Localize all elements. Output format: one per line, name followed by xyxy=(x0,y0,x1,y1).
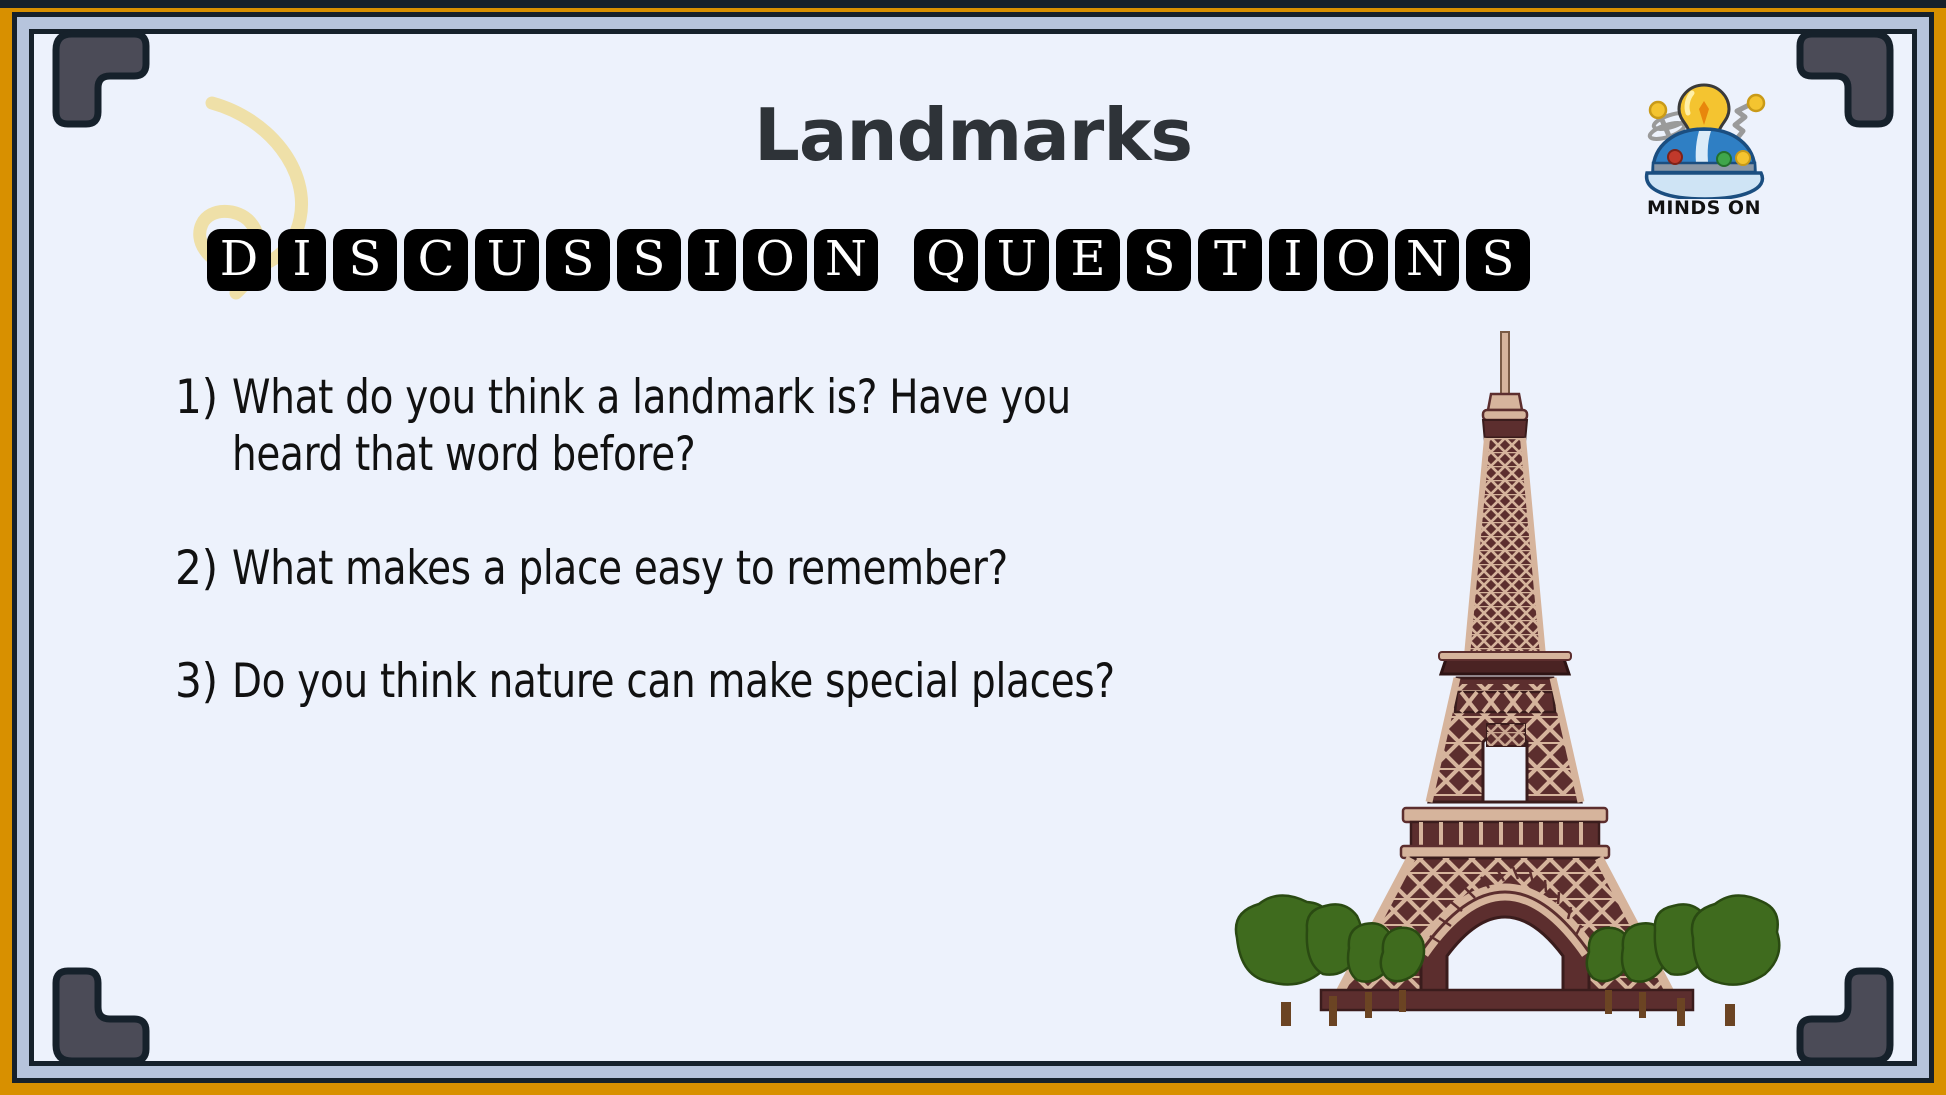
banner-letter-tile: N xyxy=(814,229,878,291)
banner-letter-tile: C xyxy=(404,229,468,291)
banner-letter-tile: S xyxy=(1127,229,1191,291)
corner-bracket-top-left xyxy=(46,24,154,132)
banner-letter-tile: U xyxy=(475,229,539,291)
banner-letter-tile: S xyxy=(546,229,610,291)
question-text: Do you think nature can make special pla… xyxy=(232,653,1127,710)
eiffel-tower-illustration xyxy=(1225,326,1785,1026)
banner-letter-tile: S xyxy=(617,229,681,291)
banner-letter-tile: I xyxy=(1269,229,1317,291)
corner-bracket-bottom-right xyxy=(1792,963,1900,1071)
questions-list: 1)What do you think a landmark is? Have … xyxy=(175,369,1205,766)
slide-frame-outer xyxy=(0,0,1946,8)
discussion-questions-banner: DISCUSSIONQUESTIONS xyxy=(207,229,1777,291)
minds-on-badge: MINDS ON xyxy=(1619,79,1789,219)
banner-letter-tile: E xyxy=(1056,229,1120,291)
banner-letter-tile: O xyxy=(743,229,807,291)
banner-letter-tile: Q xyxy=(914,229,978,291)
banner-letter-tile: S xyxy=(1466,229,1530,291)
question-number: 3) xyxy=(175,653,218,710)
banner-letter-space xyxy=(885,229,907,291)
question-number: 2) xyxy=(175,540,218,597)
page-title: Landmarks xyxy=(95,99,1851,171)
question-text: What do you think a landmark is? Have yo… xyxy=(232,369,1127,484)
banner-letter-tile: I xyxy=(688,229,736,291)
thinking-cap-lightbulb-icon xyxy=(1629,79,1779,199)
question-item: 2)What makes a place easy to remember? xyxy=(175,540,1205,597)
banner-letter-tile: I xyxy=(278,229,326,291)
question-text: What makes a place easy to remember? xyxy=(232,540,1127,597)
banner-letter-tile: D xyxy=(207,229,271,291)
question-number: 1) xyxy=(175,369,218,426)
banner-letter-tile: U xyxy=(985,229,1049,291)
banner-letter-tile: O xyxy=(1324,229,1388,291)
minds-on-label: MINDS ON xyxy=(1619,197,1789,219)
banner-letter-tile: T xyxy=(1198,229,1262,291)
corner-bracket-bottom-left xyxy=(46,963,154,1071)
banner-letter-tile: S xyxy=(333,229,397,291)
banner-letter-tile: N xyxy=(1395,229,1459,291)
slide-canvas: Landmarks xyxy=(0,0,1946,1095)
question-item: 3)Do you think nature can make special p… xyxy=(175,653,1205,710)
slide-content: Landmarks xyxy=(95,69,1851,1026)
question-item: 1)What do you think a landmark is? Have … xyxy=(175,369,1205,484)
corner-bracket-top-right xyxy=(1792,24,1900,132)
